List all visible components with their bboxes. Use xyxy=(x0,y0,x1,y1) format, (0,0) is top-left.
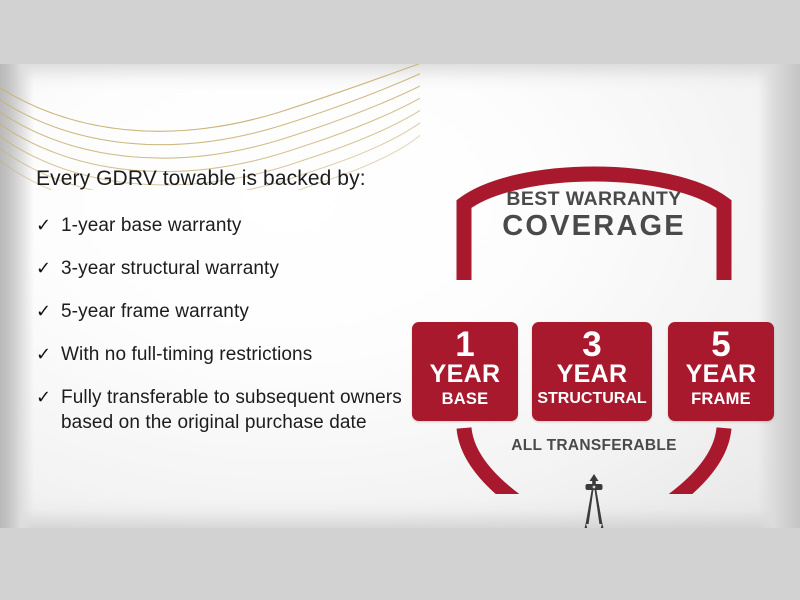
warranty-box-base: 1 YEAR BASE xyxy=(412,322,518,421)
warranty-shield-badge: BEST WARRANTY COVERAGE 1 YEAR BASE 3 YEA… xyxy=(398,156,790,494)
warranty-years-number: 5 xyxy=(668,328,774,362)
check-icon: ✓ xyxy=(36,256,61,281)
badge-title-primary: BEST WARRANTY xyxy=(398,188,790,211)
list-item-label: 3-year structural warranty xyxy=(61,256,279,281)
list-item-label: 1-year base warranty xyxy=(61,213,241,238)
check-icon: ✓ xyxy=(36,213,61,238)
list-item-label: 5-year frame warranty xyxy=(61,299,249,324)
warranty-years-number: 3 xyxy=(532,328,652,362)
list-item-label: With no full-timing restrictions xyxy=(61,342,312,367)
warranty-years-unit: YEAR xyxy=(412,362,518,387)
warranty-type-label: FRAME xyxy=(668,389,774,409)
warranty-years-unit: YEAR xyxy=(532,362,652,387)
warranty-type-label: BASE xyxy=(412,389,518,409)
warranty-box-structural: 3 YEAR STRUCTURAL xyxy=(532,322,652,421)
list-item: ✓ Fully transferable to subsequent owner… xyxy=(36,385,436,435)
badge-title-secondary: COVERAGE xyxy=(398,210,790,243)
compass-divider-icon xyxy=(572,474,616,528)
slide-left-shading xyxy=(0,64,34,528)
warranty-years-unit: YEAR xyxy=(668,362,774,387)
list-item: ✓ 5-year frame warranty xyxy=(36,299,436,324)
badge-footer-label: ALL TRANSFERABLE xyxy=(398,437,790,455)
screenshot-canvas: Every GDRV towable is backed by: ✓ 1-yea… xyxy=(0,0,800,600)
warranty-text-column: Every GDRV towable is backed by: ✓ 1-yea… xyxy=(36,167,436,453)
list-item: ✓ 1-year base warranty xyxy=(36,213,436,238)
list-item-label: Fully transferable to subsequent owners … xyxy=(61,385,436,435)
slide-top-shading xyxy=(0,64,800,90)
warranty-slide: Every GDRV towable is backed by: ✓ 1-yea… xyxy=(0,64,800,528)
check-icon: ✓ xyxy=(36,342,61,367)
list-item: ✓ With no full-timing restrictions xyxy=(36,342,436,367)
slide-bottom-shading xyxy=(0,498,800,528)
check-icon: ✓ xyxy=(36,299,61,324)
warranty-box-frame: 5 YEAR FRAME xyxy=(668,322,774,421)
warranty-years-number: 1 xyxy=(412,328,518,362)
check-icon: ✓ xyxy=(36,385,61,410)
page-title: Every GDRV towable is backed by: xyxy=(36,167,436,191)
warranty-type-label: STRUCTURAL xyxy=(532,389,652,409)
list-item: ✓ 3-year structural warranty xyxy=(36,256,436,281)
